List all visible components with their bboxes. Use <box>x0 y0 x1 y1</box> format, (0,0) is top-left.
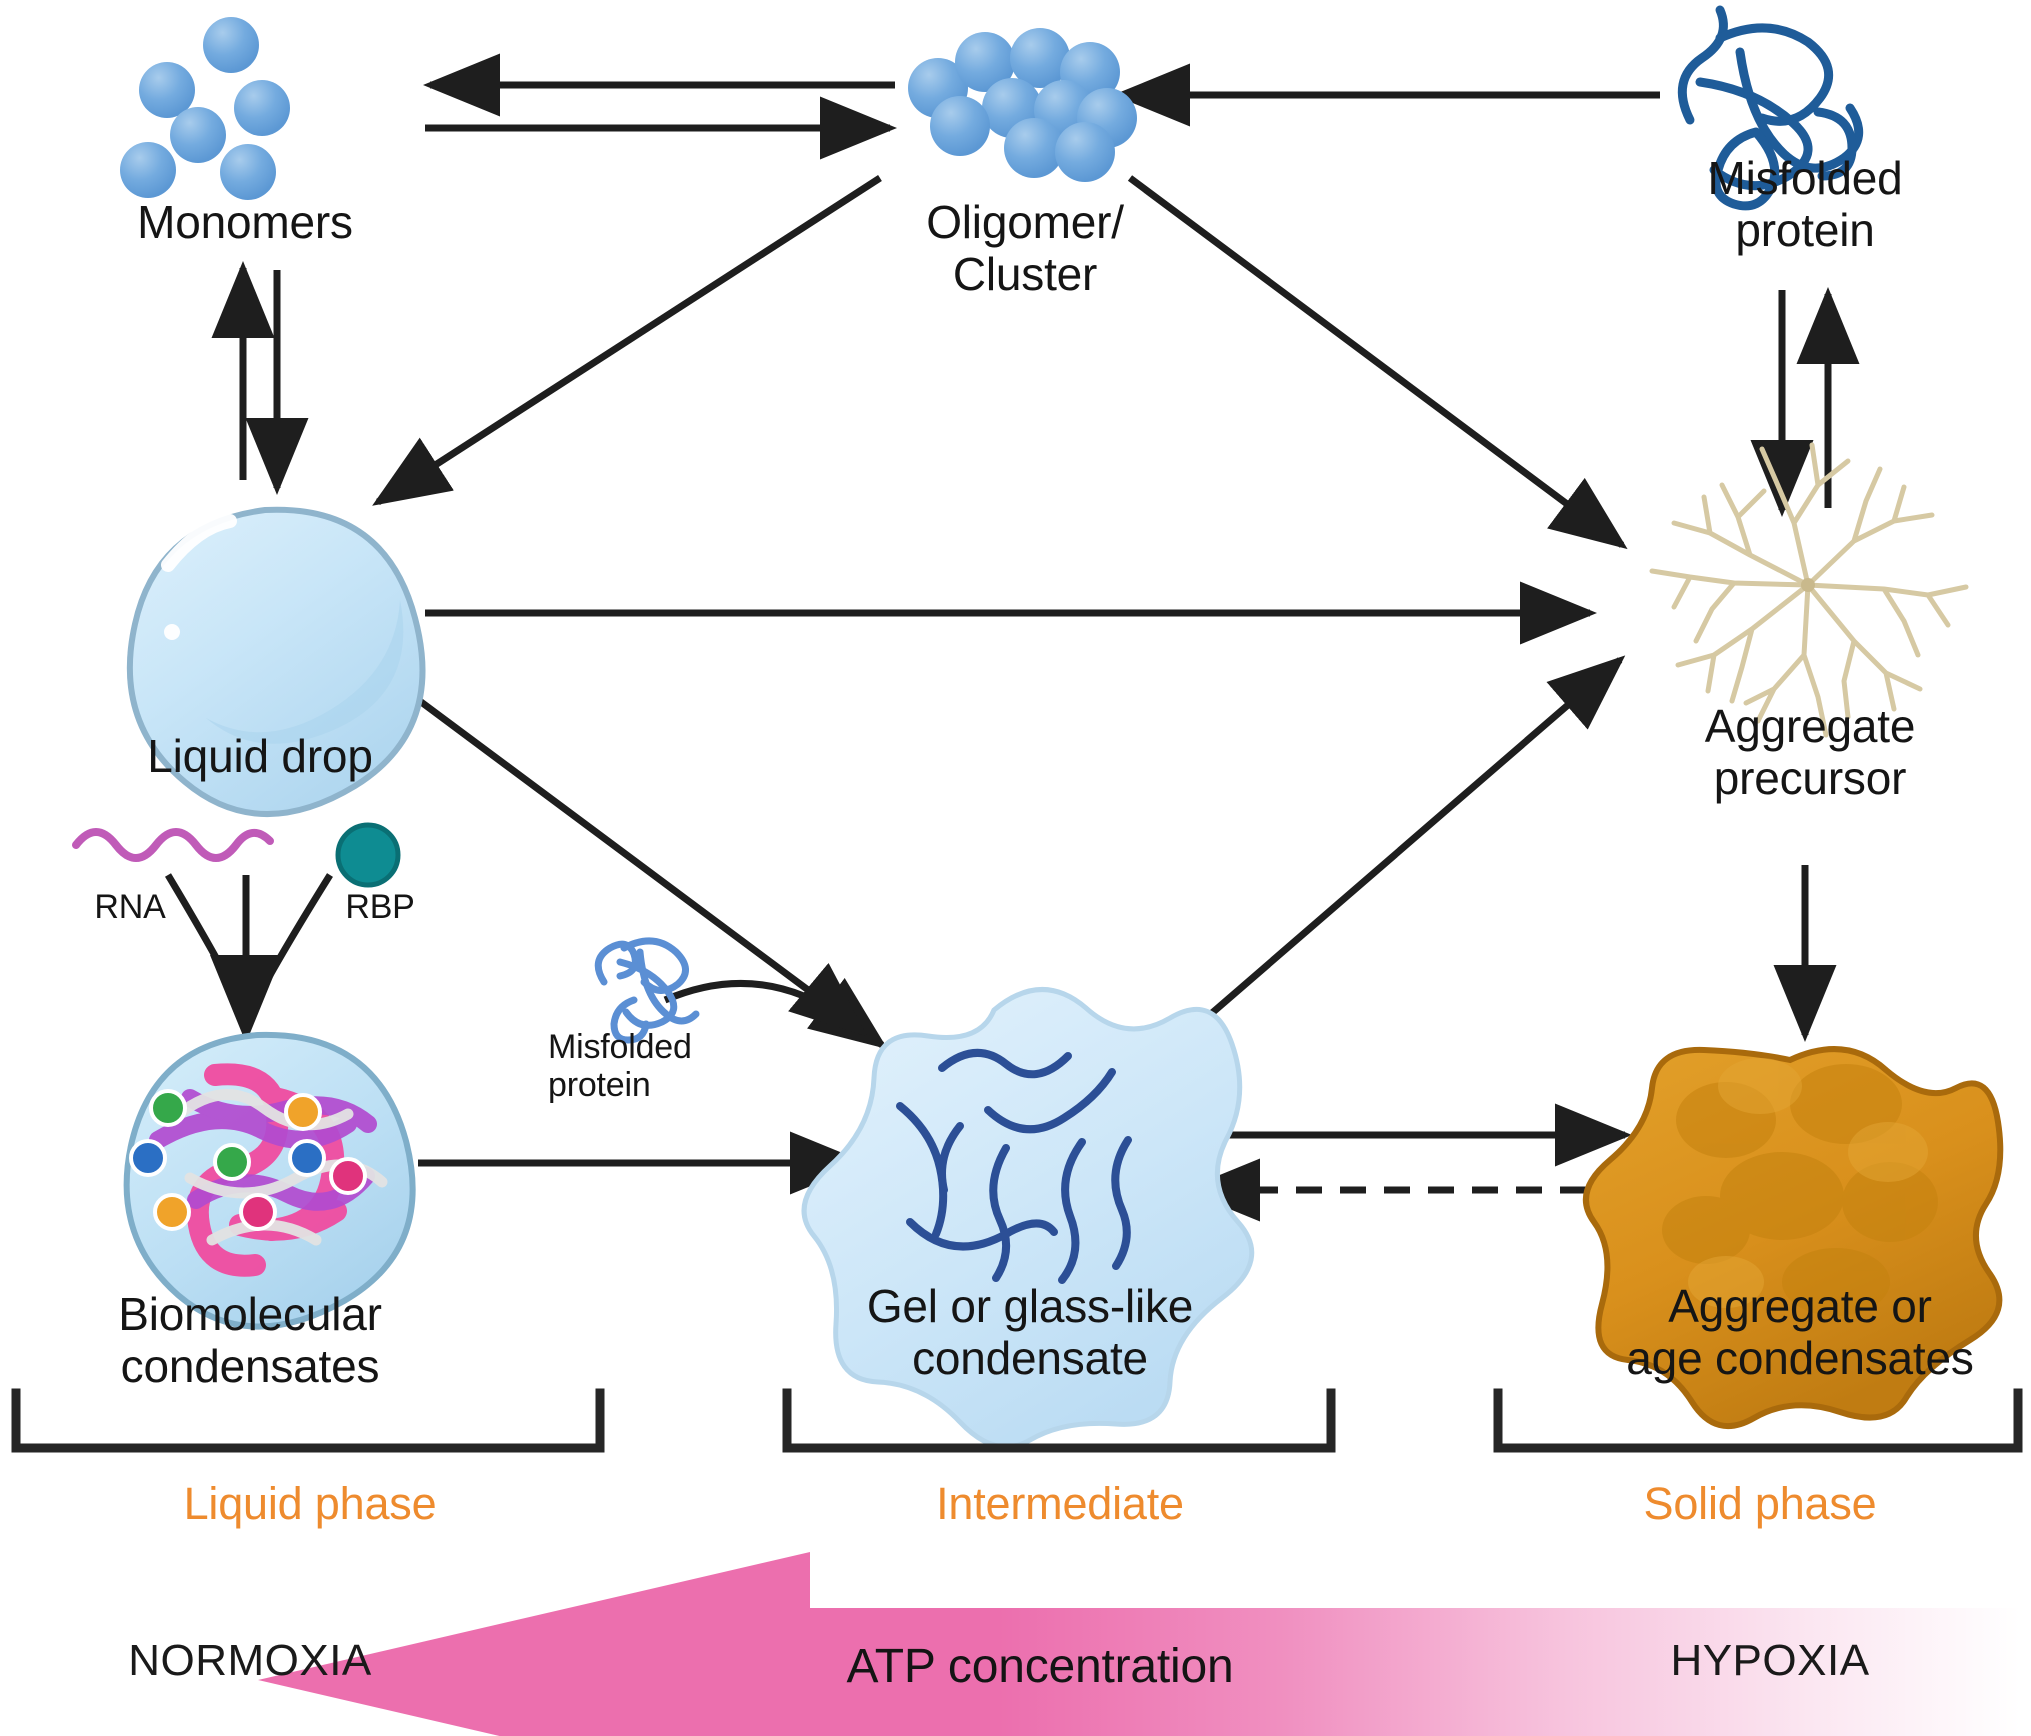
arrow-misfolded-mid-to-gel <box>665 983 862 1032</box>
normoxia-label: NORMOXIA <box>40 1636 460 1686</box>
node-label-monomers: Monomers <box>60 196 430 248</box>
node-label-aggregate-precursor: Aggregate precursor <box>1620 700 2000 805</box>
arrow-oligomer-to-liquiddrop <box>378 178 880 502</box>
node-label-gel: Gel or glass-like condensate <box>780 1280 1280 1385</box>
node-label-condensates: Biomolecular condensates <box>40 1288 460 1393</box>
biomolecular-condensate-icon <box>127 1035 413 1327</box>
node-label-misfolded-top: Misfolded protein <box>1620 152 1990 257</box>
dendritic-aggregate-icon <box>1652 445 1966 735</box>
monomer-spheres-icon <box>120 17 290 200</box>
annotation-label-rbp: RBP <box>290 888 470 926</box>
node-label-oligomer: Oligomer/ Cluster <box>840 196 1210 301</box>
node-label-aggregate: Aggregate or age condensates <box>1570 1280 2030 1385</box>
atp-axis-label: ATP concentration <box>740 1640 1340 1695</box>
phase-label-solid: Solid phase <box>1560 1478 1960 1529</box>
rna-squiggle-icon <box>76 832 270 858</box>
diagram-canvas: Monomers Oligomer/ Cluster Misfolded pro… <box>0 0 2031 1736</box>
annotation-label-rna: RNA <box>40 888 220 926</box>
node-label-liquid-drop: Liquid drop <box>60 730 460 782</box>
hypoxia-label: HYPOXIA <box>1560 1636 1980 1686</box>
oligomer-cluster-icon <box>908 28 1137 182</box>
bracket-liquid-phase <box>16 1393 600 1448</box>
phase-label-liquid: Liquid phase <box>110 1478 510 1529</box>
phase-label-intermediate: Intermediate <box>860 1478 1260 1529</box>
rbp-dot-icon <box>338 825 398 885</box>
arrow-liquiddrop-to-gel <box>405 690 882 1045</box>
annotation-label-misfolded-mid: Misfolded protein <box>548 1028 768 1104</box>
arrow-gel-to-precursor <box>1175 660 1620 1045</box>
